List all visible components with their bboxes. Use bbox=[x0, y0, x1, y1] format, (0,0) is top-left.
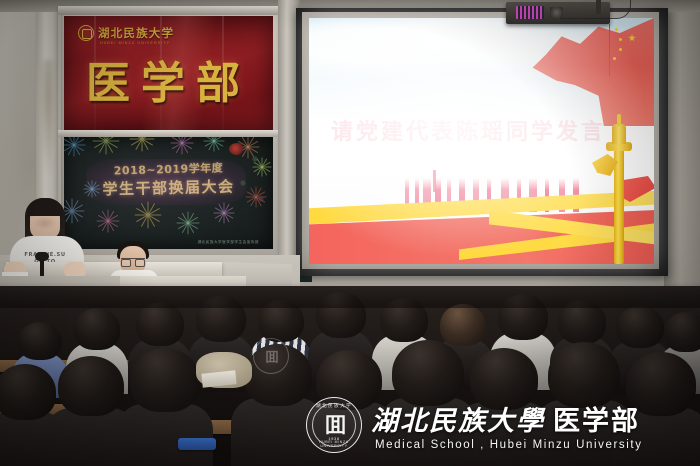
slide-title-text: 请党建代表陈瑶同学发言 bbox=[331, 114, 620, 146]
flag-pole bbox=[609, 24, 611, 76]
chalk-firework-icon bbox=[203, 137, 225, 152]
speaker-face-shading bbox=[33, 216, 57, 230]
student-head bbox=[616, 306, 664, 348]
student-torso bbox=[117, 404, 213, 466]
chalk-firework-icon bbox=[64, 137, 86, 157]
chalk-firework-icon bbox=[96, 209, 120, 233]
projected-slide: 请党建代表陈瑶同学发言 bbox=[309, 18, 654, 264]
student-head bbox=[58, 356, 124, 416]
flag-star-small bbox=[613, 57, 616, 60]
banner-university-name: 湖北民族大学 bbox=[98, 25, 174, 41]
flag-star-small bbox=[619, 38, 622, 41]
student-head bbox=[440, 304, 486, 346]
chalk-firework-icon bbox=[64, 198, 85, 224]
watermark-seal-cn: 湖北民族大学 bbox=[307, 403, 361, 409]
audience-top-shadow bbox=[0, 282, 700, 308]
student-head bbox=[18, 322, 62, 360]
student-head bbox=[130, 348, 200, 412]
chalk-ray bbox=[188, 223, 189, 235]
watermark-seal-mark: 囬 bbox=[325, 414, 343, 435]
frame-bar-middle bbox=[58, 130, 278, 137]
watermark-university-cn: 湖北民族大學 bbox=[371, 399, 545, 438]
secondary-watermark-seal: 囬 bbox=[253, 338, 289, 374]
microphone-icon bbox=[35, 252, 49, 261]
secondary-seal-mark: 囬 bbox=[265, 347, 276, 366]
banner-logo-row: 湖北民族大学 bbox=[78, 25, 174, 41]
eyeglasses-icon bbox=[121, 258, 145, 265]
flag-star-small bbox=[615, 28, 618, 31]
huabiao-shaft bbox=[614, 150, 624, 264]
watermark-seal-en: HUBEI MINZU UNIVERSITY bbox=[307, 440, 361, 448]
red-banner: 湖北民族大学 HUBEI MINZU UNIVERSITY 医学部 bbox=[64, 16, 273, 130]
watermark: 湖北民族大学 囬 1938 HUBEI MINZU UNIVERSITY 湖北民… bbox=[306, 392, 686, 458]
university-seal-icon bbox=[78, 25, 94, 41]
chalk-ray bbox=[106, 141, 107, 154]
chalk-ray bbox=[74, 145, 75, 157]
chalk-ray bbox=[108, 221, 109, 233]
projector-indicator-lights bbox=[516, 6, 544, 19]
right-wall-edge bbox=[664, 0, 700, 300]
skyline-spire bbox=[433, 170, 436, 192]
pillar-stain bbox=[40, 60, 56, 180]
lecture-hall-photo: 湖北民族大学 HUBEI MINZU UNIVERSITY 医学部 2018~2… bbox=[0, 0, 700, 466]
chalkboard: 2018~2019学年度 学生干部换届大会 湖北民族大学医学部学生会宣传部 bbox=[64, 137, 273, 249]
student-head bbox=[74, 308, 120, 350]
chalk-firework-icon bbox=[129, 137, 155, 152]
watermark-department-cn: 医学部 bbox=[553, 399, 640, 438]
student-head bbox=[0, 364, 56, 420]
chalk-firework-icon bbox=[176, 211, 200, 235]
projector-mount-arm bbox=[596, 0, 601, 14]
watermark-english: Medical School , Hubei Minzu University bbox=[371, 439, 643, 451]
watermark-text-block: 湖北民族大學 医学部 Medical School , Hubei Minzu … bbox=[371, 399, 643, 451]
banner-headline: 医学部 bbox=[64, 62, 273, 106]
watermark-cn-row: 湖北民族大學 医学部 bbox=[371, 399, 643, 438]
chalk-firework-icon bbox=[92, 137, 120, 155]
chalk-ray bbox=[142, 139, 143, 151]
chalkboard-line-2: 学生干部换届大会 bbox=[64, 175, 273, 200]
banner-university-name-en: HUBEI MINZU UNIVERSITY bbox=[100, 41, 170, 45]
blue-phone-on-desk bbox=[178, 438, 216, 450]
flag-star-small bbox=[619, 48, 622, 51]
student-head bbox=[664, 312, 700, 352]
chalk-ray bbox=[72, 211, 73, 223]
chalk-ray bbox=[182, 143, 183, 155]
chalk-ray bbox=[148, 215, 149, 228]
chalk-firework-icon bbox=[134, 201, 162, 229]
frame-bar-top bbox=[58, 6, 278, 15]
chalk-firework-icon bbox=[170, 137, 194, 155]
chalkboard-signature: 湖北民族大学医学部学生会宣传部 bbox=[198, 240, 259, 245]
microphone-stand bbox=[40, 258, 44, 278]
student-head bbox=[136, 302, 184, 346]
watermark-seal-icon: 湖北民族大学 囬 1938 HUBEI MINZU UNIVERSITY bbox=[306, 397, 362, 453]
